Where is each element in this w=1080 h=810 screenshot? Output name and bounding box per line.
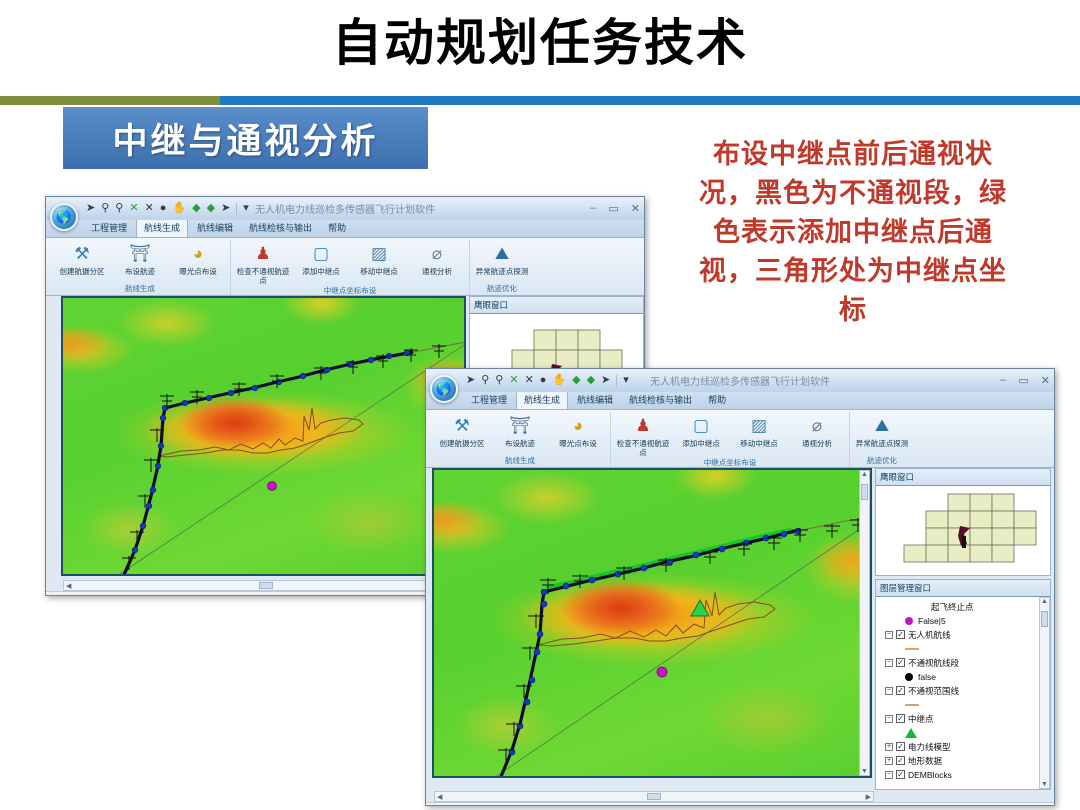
section-banner-label: 中继与通视分析 — [112, 113, 378, 164]
tab-航线检核与输出[interactable]: 航线检核与输出 — [622, 391, 699, 409]
layer-symbol-row — [879, 726, 1047, 740]
map-canvas-before[interactable] — [61, 296, 466, 576]
scroll-left-arrow[interactable]: ◀ — [437, 793, 442, 801]
tab-航线生成[interactable]: 航线生成 — [516, 390, 568, 409]
ribbon-tabbar[interactable]: 工程管理航线生成航线编辑航线检核与输出帮助 — [46, 220, 644, 238]
ribbon-button-label: 添加中继点 — [682, 439, 720, 448]
layer-visibility-checkbox[interactable]: ✓ — [896, 770, 905, 779]
anomaly-track-detect-icon: ⛰ — [490, 242, 514, 266]
ribbon-group-items: ⛰异常航迹点探测 — [855, 412, 909, 455]
map-vscroll-after[interactable]: ▲ ▼ — [859, 470, 870, 776]
layer-label: 无人机航线 — [908, 629, 951, 641]
ribbon-button-添加中继点[interactable]: ▢添加中继点 — [294, 240, 348, 276]
ribbon[interactable]: ⚒创建航摄分区⛩布设航迹◕曝光点布设航线生成♟检查不通视航迹点▢添加中继点▨移动… — [426, 410, 1054, 468]
ribbon-button-布设航迹[interactable]: ⛩布设航迹 — [493, 412, 547, 448]
create-survey-zone-icon: ⚒ — [70, 242, 94, 266]
ribbon-group-航迹优化: ⛰异常航迹点探测航迹优化 — [470, 240, 534, 295]
ribbon-button-添加中继点[interactable]: ▢添加中继点 — [674, 412, 728, 448]
add-relay-point-icon: ▢ — [689, 414, 713, 438]
ribbon-button-检查不通视航迹点[interactable]: ♟检查不通视航迹点 — [616, 412, 670, 457]
eagle-eye-title: 鹰眼窗口 — [469, 296, 644, 314]
collapse-icon[interactable]: − — [885, 631, 893, 639]
ribbon-group-航线生成: ⚒创建航摄分区⛩布设航迹◕曝光点布设航线生成 — [430, 412, 611, 467]
visibility-analysis-icon: ⌀ — [805, 414, 829, 438]
layer-symbol-row: false — [879, 670, 1047, 684]
layer-row-电力线模型[interactable]: +✓电力线模型 — [879, 740, 1047, 754]
ribbon-button-异常航迹点探测[interactable]: ⛰异常航迹点探测 — [475, 240, 529, 276]
tab-帮助[interactable]: 帮助 — [701, 391, 733, 409]
layer-row-DEMBlocks[interactable]: −✓DEMBlocks — [879, 768, 1047, 782]
ribbon-button-label: 布设航迹 — [505, 439, 535, 448]
ribbon-button-label: 移动中继点 — [360, 267, 398, 276]
layout-flight-track-icon: ⛩ — [128, 242, 152, 266]
layer-label: 中继点 — [908, 713, 934, 725]
close-button[interactable]: ✕ — [1041, 374, 1050, 387]
ribbon-button-label: 通视分析 — [802, 439, 832, 448]
ribbon-button-label: 曝光点布设 — [559, 439, 597, 448]
divider-blue — [220, 96, 1080, 105]
collapse-icon[interactable]: − — [885, 771, 893, 779]
ribbon-group-航线生成: ⚒创建航摄分区⛩布设航迹◕曝光点布设航线生成 — [50, 240, 231, 295]
ribbon-group-label: 航迹优化 — [867, 455, 897, 467]
layer-symbol-row: False|5 — [879, 614, 1047, 628]
scroll-thumb[interactable] — [861, 484, 868, 500]
layer-panel-title: 图层管理窗口 — [875, 579, 1051, 597]
layer-symbol-row — [879, 642, 1047, 656]
ribbon-button-创建航摄分区[interactable]: ⚒创建航摄分区 — [55, 240, 109, 276]
minimize-button[interactable]: – — [590, 202, 596, 215]
layer-row-不通视范围线[interactable]: −✓不通视范围线 — [879, 684, 1047, 698]
window-title: 无人机电力线巡检多传感器飞行计划软件 — [46, 201, 644, 216]
ribbon-button-label: 移动中继点 — [740, 439, 778, 448]
title-bar[interactable]: 🌎 ➤⚲⚲✕✕●✋◆◆➤▾ 无人机电力线巡检多传感器飞行计划软件 –▭✕ — [426, 369, 1054, 392]
tab-航线检核与输出[interactable]: 航线检核与输出 — [242, 219, 319, 237]
exposure-point-icon: ◕ — [566, 414, 590, 438]
layer-label: 地形数据 — [908, 755, 942, 767]
ribbon-button-label: 布设航迹 — [125, 267, 155, 276]
tab-工程管理[interactable]: 工程管理 — [84, 219, 134, 237]
layer-label: 电力线模型 — [908, 741, 951, 753]
ribbon-button-移动中继点[interactable]: ▨移动中继点 — [352, 240, 406, 276]
layer-row-无人机航线[interactable]: −✓无人机航线 — [879, 628, 1047, 642]
layer-label: DEMBlocks — [908, 770, 952, 780]
move-relay-point-icon: ▨ — [747, 414, 771, 438]
check-invisible-point-icon: ♟ — [631, 414, 655, 438]
scroll-right-arrow[interactable]: ▶ — [866, 793, 871, 801]
ribbon-button-label: 创建航摄分区 — [440, 439, 485, 448]
eagle-eye-title: 鹰眼窗口 — [875, 468, 1051, 486]
tab-工程管理[interactable]: 工程管理 — [464, 391, 514, 409]
status-bar-after: 当前坐标：X=112.696794956733， Y=22.7923238344… — [426, 802, 1054, 806]
ribbon-group-items: ⛰异常航迹点探测 — [475, 240, 529, 283]
ribbon[interactable]: ⚒创建航摄分区⛩布设航迹◕曝光点布设航线生成♟检查不通视航迹点▢添加中继点▨移动… — [46, 238, 644, 296]
layer-panel-body[interactable]: 起飞终止点False|5−✓无人机航线−✓不通视航线段false−✓不通视范围线… — [875, 597, 1051, 790]
window-controls[interactable]: –▭✕ — [590, 202, 640, 215]
layer-tree-vscroll[interactable]: ▲ ▼ — [1039, 597, 1050, 789]
exposure-point-icon: ◕ — [186, 242, 210, 266]
symbol-dot-icon — [905, 673, 913, 681]
ribbon-button-label: 检查不通视航迹点 — [616, 439, 670, 457]
layer-row-不通视航线段[interactable]: −✓不通视航线段 — [879, 656, 1047, 670]
map-hscroll-before[interactable]: ◀ ▶ — [63, 580, 469, 591]
layer-visibility-checkbox[interactable]: ✓ — [896, 742, 905, 751]
app-orb-icon[interactable]: 🌎 — [430, 375, 458, 403]
ribbon-button-检查不通视航迹点[interactable]: ♟检查不通视航迹点 — [236, 240, 290, 285]
ribbon-button-label: 创建航摄分区 — [60, 267, 105, 276]
flight-path-overlay — [434, 470, 870, 776]
map-canvas-after[interactable]: ▲ ▼ — [432, 468, 872, 778]
eagle-eye-grid — [876, 486, 1050, 576]
symbol-triangle-icon — [905, 728, 917, 738]
start-end-point-marker — [657, 667, 667, 677]
window-title: 无人机电力线巡检多传感器飞行计划软件 — [426, 373, 1054, 388]
start-end-point-marker — [268, 482, 277, 491]
tab-帮助[interactable]: 帮助 — [321, 219, 353, 237]
ribbon-button-label: 曝光点布设 — [179, 267, 217, 276]
ribbon-group-中继点坐标布设: ♟检查不通视航迹点▢添加中继点▨移动中继点⌀通视分析中继点坐标布设 — [231, 240, 470, 295]
page-title: 自动规划任务技术 — [0, 8, 1080, 78]
work-area: ▲ ▼ 鹰眼窗口 — [426, 468, 1054, 790]
collapse-icon[interactable]: − — [885, 659, 893, 667]
right-panels-after: 鹰眼窗口 — [875, 468, 1051, 790]
layer-label: 不通视范围线 — [908, 685, 959, 697]
scroll-thumb[interactable] — [259, 582, 273, 589]
ribbon-group-label: 航线生成 — [125, 283, 155, 295]
ribbon-button-异常航迹点探测[interactable]: ⛰异常航迹点探测 — [855, 412, 909, 448]
slide-root: 自动规划任务技术 中继与通视分析 布设中继点前后通视状况，黑色为不通视段，绿色表… — [0, 0, 1080, 810]
symbol-dot-icon — [905, 617, 913, 625]
create-survey-zone-icon: ⚒ — [450, 414, 474, 438]
scroll-up-arrow[interactable]: ▲ — [1041, 598, 1048, 605]
ribbon-tabbar[interactable]: 工程管理航线生成航线编辑航线检核与输出帮助 — [426, 392, 1054, 410]
ribbon-button-曝光点布设[interactable]: ◕曝光点布设 — [551, 412, 605, 448]
tab-航线编辑[interactable]: 航线编辑 — [570, 391, 620, 409]
app-orb-icon[interactable]: 🌎 — [50, 203, 78, 231]
layer-label: 不通视航线段 — [908, 657, 959, 669]
ribbon-button-曝光点布设[interactable]: ◕曝光点布设 — [171, 240, 225, 276]
eagle-eye-body[interactable] — [875, 486, 1051, 576]
expand-icon[interactable]: + — [885, 757, 893, 765]
layer-symbol-row — [879, 698, 1047, 712]
ribbon-button-label: 添加中继点 — [302, 267, 340, 276]
ribbon-group-items: ♟检查不通视航迹点▢添加中继点▨移动中继点⌀通视分析 — [236, 240, 464, 285]
layer-row-地形数据[interactable]: +✓地形数据 — [879, 754, 1047, 768]
visibility-analysis-icon: ⌀ — [425, 242, 449, 266]
symbol-line-icon — [905, 648, 919, 650]
ribbon-group-items: ⚒创建航摄分区⛩布设航迹◕曝光点布设 — [55, 240, 225, 283]
layer-visibility-checkbox[interactable]: ✓ — [896, 630, 905, 639]
ribbon-button-label: 异常航迹点探测 — [856, 439, 909, 448]
scroll-left-arrow[interactable]: ◀ — [66, 582, 71, 590]
maximize-button[interactable]: ▭ — [1018, 374, 1028, 387]
maximize-button[interactable]: ▭ — [608, 202, 618, 215]
section-banner: 中继与通视分析 — [63, 107, 428, 169]
scroll-down-arrow[interactable]: ▼ — [1041, 781, 1048, 788]
scroll-up-arrow[interactable]: ▲ — [861, 471, 868, 478]
ribbon-button-label: 检查不通视航迹点 — [236, 267, 290, 285]
ribbon-button-label: 通视分析 — [422, 267, 452, 276]
app-window-after-relay[interactable]: 🌎 ➤⚲⚲✕✕●✋◆◆➤▾ 无人机电力线巡检多传感器飞行计划软件 –▭✕ 工程管… — [425, 368, 1055, 806]
add-relay-point-icon: ▢ — [309, 242, 333, 266]
ribbon-group-label: 航迹优化 — [487, 283, 517, 295]
layer-symbol-label: false — [918, 672, 936, 682]
scroll-down-arrow[interactable]: ▼ — [861, 768, 868, 775]
ribbon-group-航迹优化: ⛰异常航迹点探测航迹优化 — [850, 412, 914, 467]
layer-symbol-label: False|5 — [918, 616, 946, 626]
layer-label: 起飞终止点 — [931, 601, 974, 613]
layer-group-header: 起飞终止点 — [879, 600, 1047, 614]
ribbon-group-label: 航线生成 — [505, 455, 535, 467]
ribbon-button-布设航迹[interactable]: ⛩布设航迹 — [113, 240, 167, 276]
window-controls[interactable]: –▭✕ — [1000, 374, 1050, 387]
flight-path-overlay — [63, 298, 464, 574]
map-hscroll-after[interactable]: ◀ ▶ — [434, 791, 874, 802]
move-relay-point-icon: ▨ — [367, 242, 391, 266]
ribbon-button-label: 异常航迹点探测 — [476, 267, 529, 276]
tab-航线生成[interactable]: 航线生成 — [136, 218, 188, 237]
ribbon-group-中继点坐标布设: ♟检查不通视航迹点▢添加中继点▨移动中继点⌀通视分析中继点坐标布设 — [611, 412, 850, 467]
check-invisible-point-icon: ♟ — [251, 242, 275, 266]
collapse-icon[interactable]: − — [885, 687, 893, 695]
layer-visibility-checkbox[interactable]: ✓ — [896, 686, 905, 695]
layer-tree[interactable]: 起飞终止点False|5−✓无人机航线−✓不通视航线段false−✓不通视范围线… — [876, 597, 1050, 782]
scroll-thumb[interactable] — [1041, 611, 1048, 627]
layer-visibility-checkbox[interactable]: ✓ — [896, 714, 905, 723]
layer-visibility-checkbox[interactable]: ✓ — [896, 658, 905, 667]
minimize-button[interactable]: – — [1000, 374, 1006, 387]
ribbon-group-items: ♟检查不通视航迹点▢添加中继点▨移动中继点⌀通视分析 — [616, 412, 844, 457]
tab-航线编辑[interactable]: 航线编辑 — [190, 219, 240, 237]
expand-icon[interactable]: + — [885, 743, 893, 751]
close-button[interactable]: ✕ — [631, 202, 640, 215]
ribbon-button-创建航摄分区[interactable]: ⚒创建航摄分区 — [435, 412, 489, 448]
ribbon-button-通视分析[interactable]: ⌀通视分析 — [410, 240, 464, 276]
layer-row-中继点[interactable]: −✓中继点 — [879, 712, 1047, 726]
scroll-thumb[interactable] — [647, 793, 661, 800]
layout-flight-track-icon: ⛩ — [508, 414, 532, 438]
divider-olive — [0, 96, 220, 105]
collapse-icon[interactable]: − — [885, 715, 893, 723]
layer-visibility-checkbox[interactable]: ✓ — [896, 756, 905, 765]
title-bar[interactable]: 🌎 ➤⚲⚲✕✕●✋◆◆➤▾ 无人机电力线巡检多传感器飞行计划软件 –▭✕ — [46, 197, 644, 220]
ribbon-button-移动中继点[interactable]: ▨移动中继点 — [732, 412, 786, 448]
ribbon-group-items: ⚒创建航摄分区⛩布设航迹◕曝光点布设 — [435, 412, 605, 455]
anomaly-track-detect-icon: ⛰ — [870, 414, 894, 438]
ribbon-button-通视分析[interactable]: ⌀通视分析 — [790, 412, 844, 448]
symbol-line-icon — [905, 704, 919, 706]
annotation-note: 布设中继点前后通视状况，黑色为不通视段，绿色表示添加中继点后通视，三角形处为中继… — [688, 135, 1018, 330]
